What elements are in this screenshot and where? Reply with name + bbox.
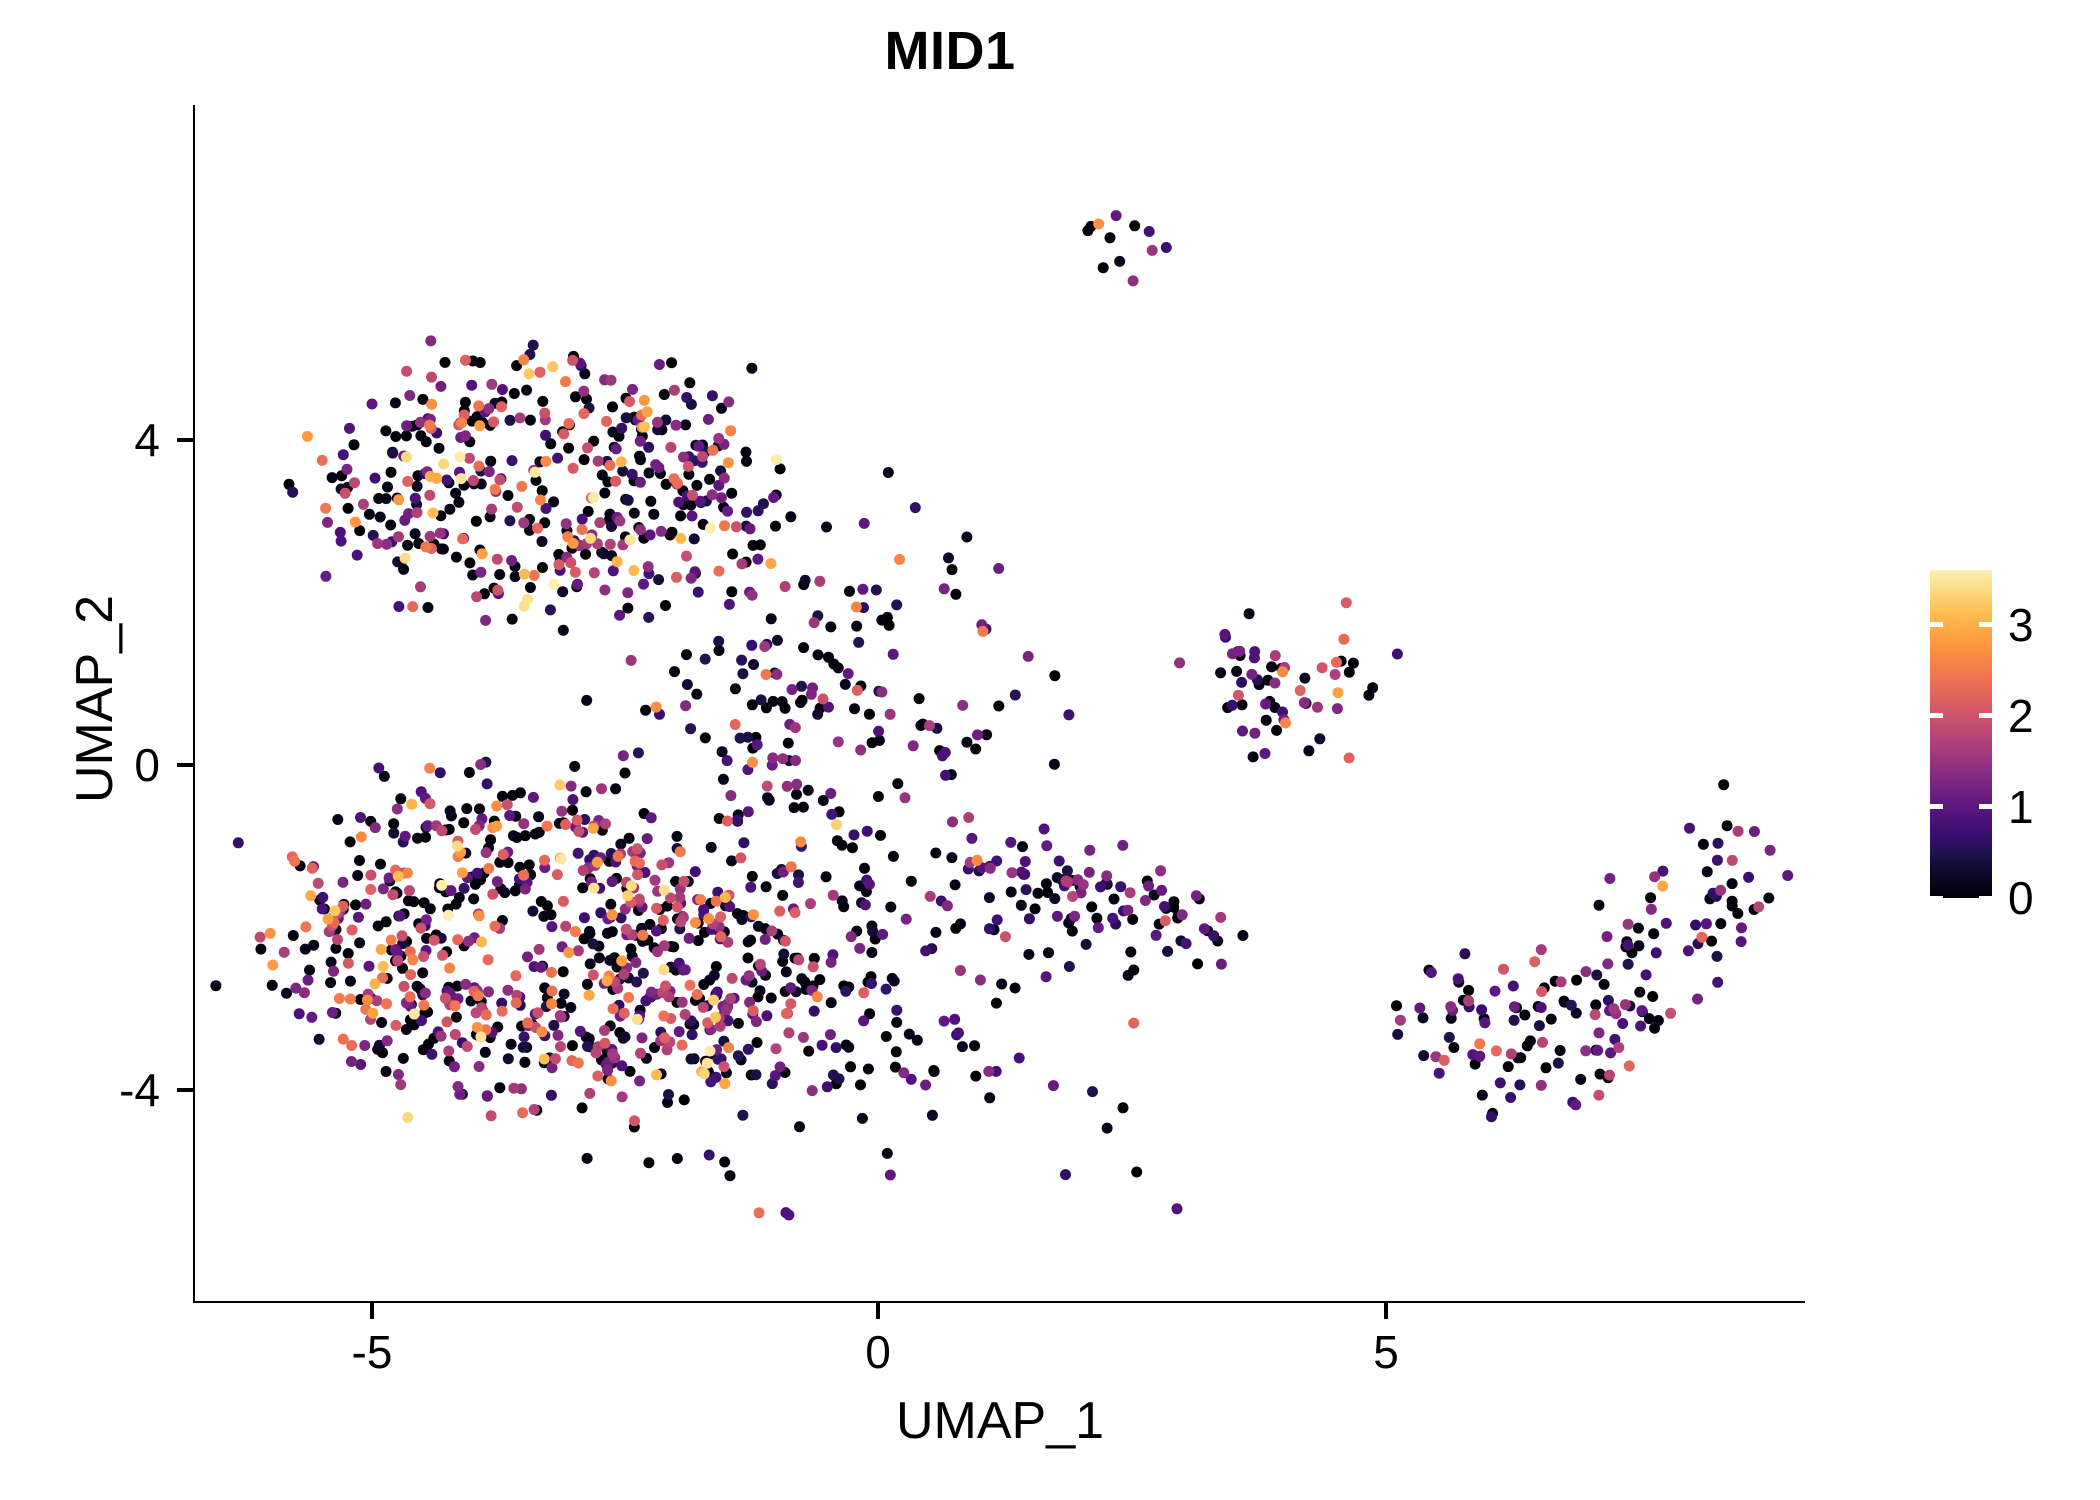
scatter-point: [1020, 856, 1031, 867]
scatter-point: [735, 733, 746, 744]
y-axis-label: UMAP_2: [69, 349, 121, 1049]
scatter-point: [474, 910, 485, 921]
scatter-point: [851, 621, 862, 632]
scatter-point: [651, 702, 662, 713]
scatter-point: [344, 423, 355, 434]
scatter-point: [1733, 826, 1744, 837]
scatter-point: [713, 636, 724, 647]
scatter-point: [511, 997, 522, 1008]
scatter-point: [780, 581, 791, 592]
scatter-point: [1506, 1048, 1517, 1059]
scatter-point: [393, 871, 404, 882]
scatter-point: [470, 824, 481, 835]
scatter-point: [598, 548, 609, 559]
scatter-point: [908, 740, 919, 751]
scatter-point: [867, 926, 878, 937]
scatter-point: [1509, 1001, 1520, 1012]
scatter-point: [993, 701, 1004, 712]
scatter-point: [885, 1170, 896, 1181]
scatter-point: [1444, 1032, 1455, 1043]
scatter-point: [407, 601, 418, 612]
scatter-point: [672, 831, 683, 842]
scatter-point: [1143, 881, 1154, 892]
scatter-point: [1736, 936, 1747, 947]
scatter-point: [581, 786, 592, 797]
scatter-point: [1052, 911, 1063, 922]
colorbar: [1930, 570, 1992, 898]
scatter-point: [1061, 876, 1072, 887]
scatter-plot-panel: [195, 105, 1805, 1301]
scatter-point: [1439, 1055, 1450, 1066]
scatter-point: [785, 998, 796, 1009]
scatter-point: [314, 1034, 325, 1045]
scatter-point: [859, 518, 870, 529]
scatter-point: [864, 709, 875, 720]
scatter-point: [996, 979, 1007, 990]
scatter-point: [460, 397, 471, 408]
colorbar-tick-1: [1979, 804, 1992, 809]
scatter-point: [630, 957, 641, 968]
scatter-point: [567, 1040, 578, 1051]
scatter-point: [1303, 745, 1314, 756]
scatter-point: [385, 520, 396, 531]
scatter-point: [616, 955, 627, 966]
scatter-point: [735, 852, 746, 863]
scatter-point: [1651, 947, 1662, 958]
scatter-point: [892, 778, 903, 789]
scatter-point: [660, 600, 671, 611]
scatter-point: [713, 433, 724, 444]
scatter-point: [498, 849, 509, 860]
scatter-point: [510, 970, 521, 981]
scatter-point: [1128, 1018, 1139, 1029]
scatter-point: [345, 836, 356, 847]
scatter-point: [1636, 1005, 1647, 1016]
scatter-point: [1463, 985, 1474, 996]
scatter-point: [1490, 986, 1501, 997]
scatter-point: [1648, 928, 1659, 939]
scatter-point: [1486, 1111, 1497, 1122]
scatter-points-layer: [195, 105, 1805, 1301]
scatter-point: [1602, 931, 1613, 942]
scatter-point: [372, 538, 383, 549]
scatter-point: [818, 694, 829, 705]
scatter-point: [364, 509, 375, 520]
scatter-point: [445, 805, 456, 816]
scatter-point: [415, 581, 426, 592]
scatter-point: [1623, 959, 1634, 970]
scatter-point: [1727, 855, 1738, 866]
scatter-point: [390, 944, 401, 955]
scatter-point: [607, 1048, 618, 1059]
scatter-point: [579, 454, 590, 465]
scatter-point: [1594, 900, 1605, 911]
scatter-point: [401, 1024, 412, 1035]
scatter-point: [466, 380, 477, 391]
scatter-point: [925, 891, 936, 902]
scatter-point: [398, 1053, 409, 1064]
scatter-point: [588, 883, 599, 894]
scatter-point: [704, 1150, 715, 1161]
scatter-point: [885, 709, 896, 720]
scatter-point: [515, 412, 526, 423]
scatter-point: [1665, 1008, 1676, 1019]
scatter-point: [577, 1102, 588, 1113]
scatter-point: [317, 892, 328, 903]
scatter-point: [638, 579, 649, 590]
scatter-point: [453, 497, 464, 508]
scatter-point: [891, 1005, 902, 1016]
scatter-point: [732, 815, 743, 826]
scatter-point: [592, 1071, 603, 1082]
scatter-point: [1244, 608, 1255, 619]
scatter-point: [898, 1067, 909, 1078]
scatter-point: [1633, 923, 1644, 934]
scatter-point: [482, 778, 493, 789]
scatter-point: [281, 988, 292, 999]
scatter-point: [796, 681, 807, 692]
scatter-point: [646, 812, 657, 823]
scatter-point: [906, 876, 917, 887]
scatter-point: [1341, 597, 1352, 608]
scatter-point: [436, 543, 447, 554]
scatter-point: [1172, 1203, 1183, 1214]
scatter-point: [475, 357, 486, 368]
scatter-point: [775, 1061, 786, 1072]
scatter-point: [424, 490, 435, 501]
scatter-point: [719, 1061, 730, 1072]
scatter-point: [1392, 1029, 1403, 1040]
scatter-point: [1314, 733, 1325, 744]
scatter-point: [684, 377, 695, 388]
scatter-point: [741, 507, 752, 518]
scatter-point: [412, 833, 423, 844]
scatter-point: [1144, 226, 1155, 237]
scatter-point: [593, 456, 604, 467]
scatter-point: [464, 453, 475, 464]
scatter-point: [650, 459, 661, 470]
scatter-point: [546, 967, 557, 978]
scatter-point: [677, 997, 688, 1008]
scatter-point: [388, 818, 399, 829]
scatter-point: [1215, 667, 1226, 678]
x-tick-mark-0: [876, 1303, 880, 1319]
scatter-point: [397, 930, 408, 941]
scatter-point: [568, 463, 579, 474]
scatter-point: [1049, 670, 1060, 681]
scatter-point: [637, 1032, 648, 1043]
scatter-point: [436, 825, 447, 836]
scatter-point: [375, 512, 386, 523]
scatter-point: [715, 931, 726, 942]
scatter-point: [537, 562, 548, 573]
scatter-point: [648, 509, 659, 520]
scatter-point: [472, 1022, 483, 1033]
scatter-point: [265, 928, 276, 939]
scatter-point: [233, 837, 244, 848]
scatter-point: [307, 863, 318, 874]
scatter-point: [575, 1026, 586, 1037]
scatter-point: [1348, 658, 1359, 669]
scatter-point: [342, 464, 353, 475]
scatter-point: [402, 540, 413, 551]
scatter-point: [1260, 699, 1271, 710]
y-tick-mark-0: [177, 763, 193, 767]
scatter-point: [573, 826, 584, 837]
color-legend: 0123: [1930, 570, 2080, 910]
scatter-point: [723, 396, 734, 407]
scatter-point: [643, 1157, 654, 1168]
scatter-point: [828, 890, 839, 901]
scatter-point: [737, 1110, 748, 1121]
scatter-point: [825, 1029, 836, 1040]
scatter-point: [687, 511, 698, 522]
colorbar-label-3: 3: [2008, 602, 2034, 648]
scatter-point: [438, 459, 449, 470]
scatter-point: [536, 962, 547, 973]
scatter-point: [390, 397, 401, 408]
scatter-point: [1445, 1001, 1456, 1012]
scatter-point: [359, 1040, 370, 1051]
scatter-point: [452, 841, 463, 852]
y-tick-label--4: -4: [20, 1067, 160, 1113]
scatter-point: [1014, 1053, 1025, 1064]
scatter-point: [491, 821, 502, 832]
scatter-point: [866, 978, 877, 989]
scatter-point: [477, 548, 488, 559]
scatter-point: [436, 1031, 447, 1042]
scatter-point: [759, 641, 770, 652]
scatter-point: [556, 806, 567, 817]
scatter-point: [623, 495, 634, 506]
scatter-point: [1248, 751, 1259, 762]
scatter-point: [855, 745, 866, 756]
scatter-point: [851, 602, 862, 613]
scatter-point: [426, 372, 437, 383]
scatter-point: [1715, 918, 1726, 929]
scatter-point: [588, 970, 599, 981]
scatter-point: [1234, 646, 1245, 657]
scatter-point: [762, 792, 773, 803]
scatter-point: [943, 552, 954, 563]
scatter-point: [875, 830, 886, 841]
scatter-point: [328, 966, 339, 977]
scatter-point: [1537, 1037, 1548, 1048]
scatter-point: [349, 477, 360, 488]
scatter-point: [966, 833, 977, 844]
scatter-point: [578, 865, 589, 876]
scatter-point: [1690, 920, 1701, 931]
x-tick-label-0: 0: [798, 1329, 958, 1375]
scatter-point: [1566, 1000, 1577, 1011]
scatter-point: [699, 1068, 710, 1079]
scatter-point: [522, 951, 533, 962]
scatter-point: [532, 523, 543, 534]
scatter-point: [1129, 220, 1140, 231]
scatter-point: [765, 558, 776, 569]
scatter-point: [474, 1061, 485, 1072]
scatter-point: [588, 492, 599, 503]
scatter-point: [743, 1044, 754, 1055]
scatter-point: [1168, 896, 1179, 907]
scatter-point: [719, 1157, 730, 1168]
scatter-point: [1016, 900, 1027, 911]
scatter-point: [484, 466, 495, 477]
scatter-point: [503, 490, 514, 501]
scatter-point: [791, 789, 802, 800]
scatter-point: [1060, 1169, 1071, 1180]
scatter-point: [496, 401, 507, 412]
scatter-point: [1701, 918, 1712, 929]
scatter-point: [671, 572, 682, 583]
scatter-point: [844, 586, 855, 597]
scatter-point: [1692, 994, 1703, 1005]
scatter-point: [645, 496, 656, 507]
scatter-point: [553, 1030, 564, 1041]
scatter-point: [371, 995, 382, 1006]
scatter-point: [733, 1018, 744, 1029]
scatter-point: [460, 355, 471, 366]
scatter-point: [1333, 687, 1344, 698]
scatter-point: [567, 805, 578, 816]
scatter-point: [400, 831, 411, 842]
scatter-point: [1101, 870, 1112, 881]
scatter-point: [390, 431, 401, 442]
scatter-point: [535, 367, 546, 378]
scatter-point: [537, 1026, 548, 1037]
scatter-point: [210, 980, 221, 991]
scatter-point: [790, 722, 801, 733]
scatter-point: [623, 992, 634, 1003]
scatter-point: [718, 774, 729, 785]
scatter-point: [901, 914, 912, 925]
scatter-point: [425, 798, 436, 809]
scatter-point: [418, 1000, 429, 1011]
scatter-point: [1624, 1061, 1635, 1072]
scatter-point: [1367, 682, 1378, 693]
scatter-point: [538, 911, 549, 922]
scatter-point: [833, 736, 844, 747]
scatter-point: [573, 1058, 584, 1069]
scatter-point: [483, 954, 494, 965]
scatter-point: [1215, 912, 1226, 923]
scatter-point: [370, 473, 381, 484]
scatter-point: [608, 1003, 619, 1014]
scatter-point: [823, 652, 834, 663]
scatter-point: [1208, 930, 1219, 941]
scatter-point: [313, 878, 324, 889]
scatter-point: [365, 870, 376, 881]
scatter-point: [375, 859, 386, 870]
scatter-point: [589, 567, 600, 578]
scatter-point: [881, 1031, 892, 1042]
scatter-point: [482, 1090, 493, 1101]
scatter-point: [627, 469, 638, 480]
scatter-point: [1236, 677, 1247, 688]
scatter-point: [547, 986, 558, 997]
scatter-point: [1715, 885, 1726, 896]
scatter-point: [686, 1054, 697, 1065]
scatter-point: [403, 895, 414, 906]
scatter-point: [621, 924, 632, 935]
scatter-point: [362, 995, 373, 1006]
scatter-point: [929, 1066, 940, 1077]
scatter-point: [509, 388, 520, 399]
scatter-point: [494, 569, 505, 580]
scatter-point: [406, 799, 417, 810]
scatter-point: [468, 475, 479, 486]
scatter-point: [876, 687, 887, 698]
scatter-point: [1649, 871, 1660, 882]
scatter-point: [637, 930, 648, 941]
scatter-point: [846, 931, 857, 942]
scatter-point: [685, 980, 696, 991]
scatter-point: [798, 642, 809, 653]
scatter-point: [458, 817, 469, 828]
scatter-point: [755, 985, 766, 996]
scatter-point: [381, 1066, 392, 1077]
scatter-point: [957, 700, 968, 711]
scatter-point: [425, 903, 436, 914]
scatter-point: [1147, 245, 1158, 256]
scatter-point: [719, 1078, 730, 1089]
scatter-point: [468, 893, 479, 904]
scatter-point: [747, 757, 758, 768]
scatter-point: [805, 898, 816, 909]
scatter-point: [703, 414, 714, 425]
scatter-point: [790, 755, 801, 766]
scatter-point: [1023, 651, 1034, 662]
scatter-point: [772, 635, 783, 646]
scatter-point: [725, 1170, 736, 1181]
scatter-point: [471, 591, 482, 602]
scatter-point: [635, 477, 646, 488]
scatter-point: [857, 584, 868, 595]
scatter-point: [736, 655, 747, 666]
scatter-point: [866, 947, 877, 958]
scatter-point: [382, 1035, 393, 1046]
scatter-point: [602, 1065, 613, 1076]
scatter-point: [693, 441, 704, 452]
scatter-point: [506, 1039, 517, 1050]
scatter-point: [255, 944, 266, 955]
scatter-point: [305, 890, 316, 901]
scatter-point: [442, 1016, 453, 1027]
scatter-point: [332, 934, 343, 945]
scatter-point: [626, 880, 637, 891]
scatter-point: [410, 528, 421, 539]
scatter-point: [1749, 826, 1760, 837]
scatter-point: [606, 1075, 617, 1086]
scatter-point: [529, 1104, 540, 1115]
scatter-point: [713, 566, 724, 577]
feature-plot-figure: MID1 -5 0 5 4 0 -4 UMAP_1 UMAP_2 0123: [0, 0, 2100, 1500]
scatter-point: [1039, 824, 1050, 835]
scatter-point: [727, 549, 738, 560]
scatter-point: [984, 1092, 995, 1103]
scatter-point: [504, 515, 515, 526]
scatter-point: [399, 981, 410, 992]
scatter-point: [725, 425, 736, 436]
scatter-point: [1495, 1077, 1506, 1088]
scatter-point: [858, 1015, 869, 1026]
scatter-point: [727, 973, 738, 984]
scatter-point: [768, 492, 779, 503]
scatter-point: [288, 930, 299, 941]
scatter-point: [840, 679, 851, 690]
scatter-point: [748, 659, 759, 670]
scatter-point: [425, 531, 436, 542]
